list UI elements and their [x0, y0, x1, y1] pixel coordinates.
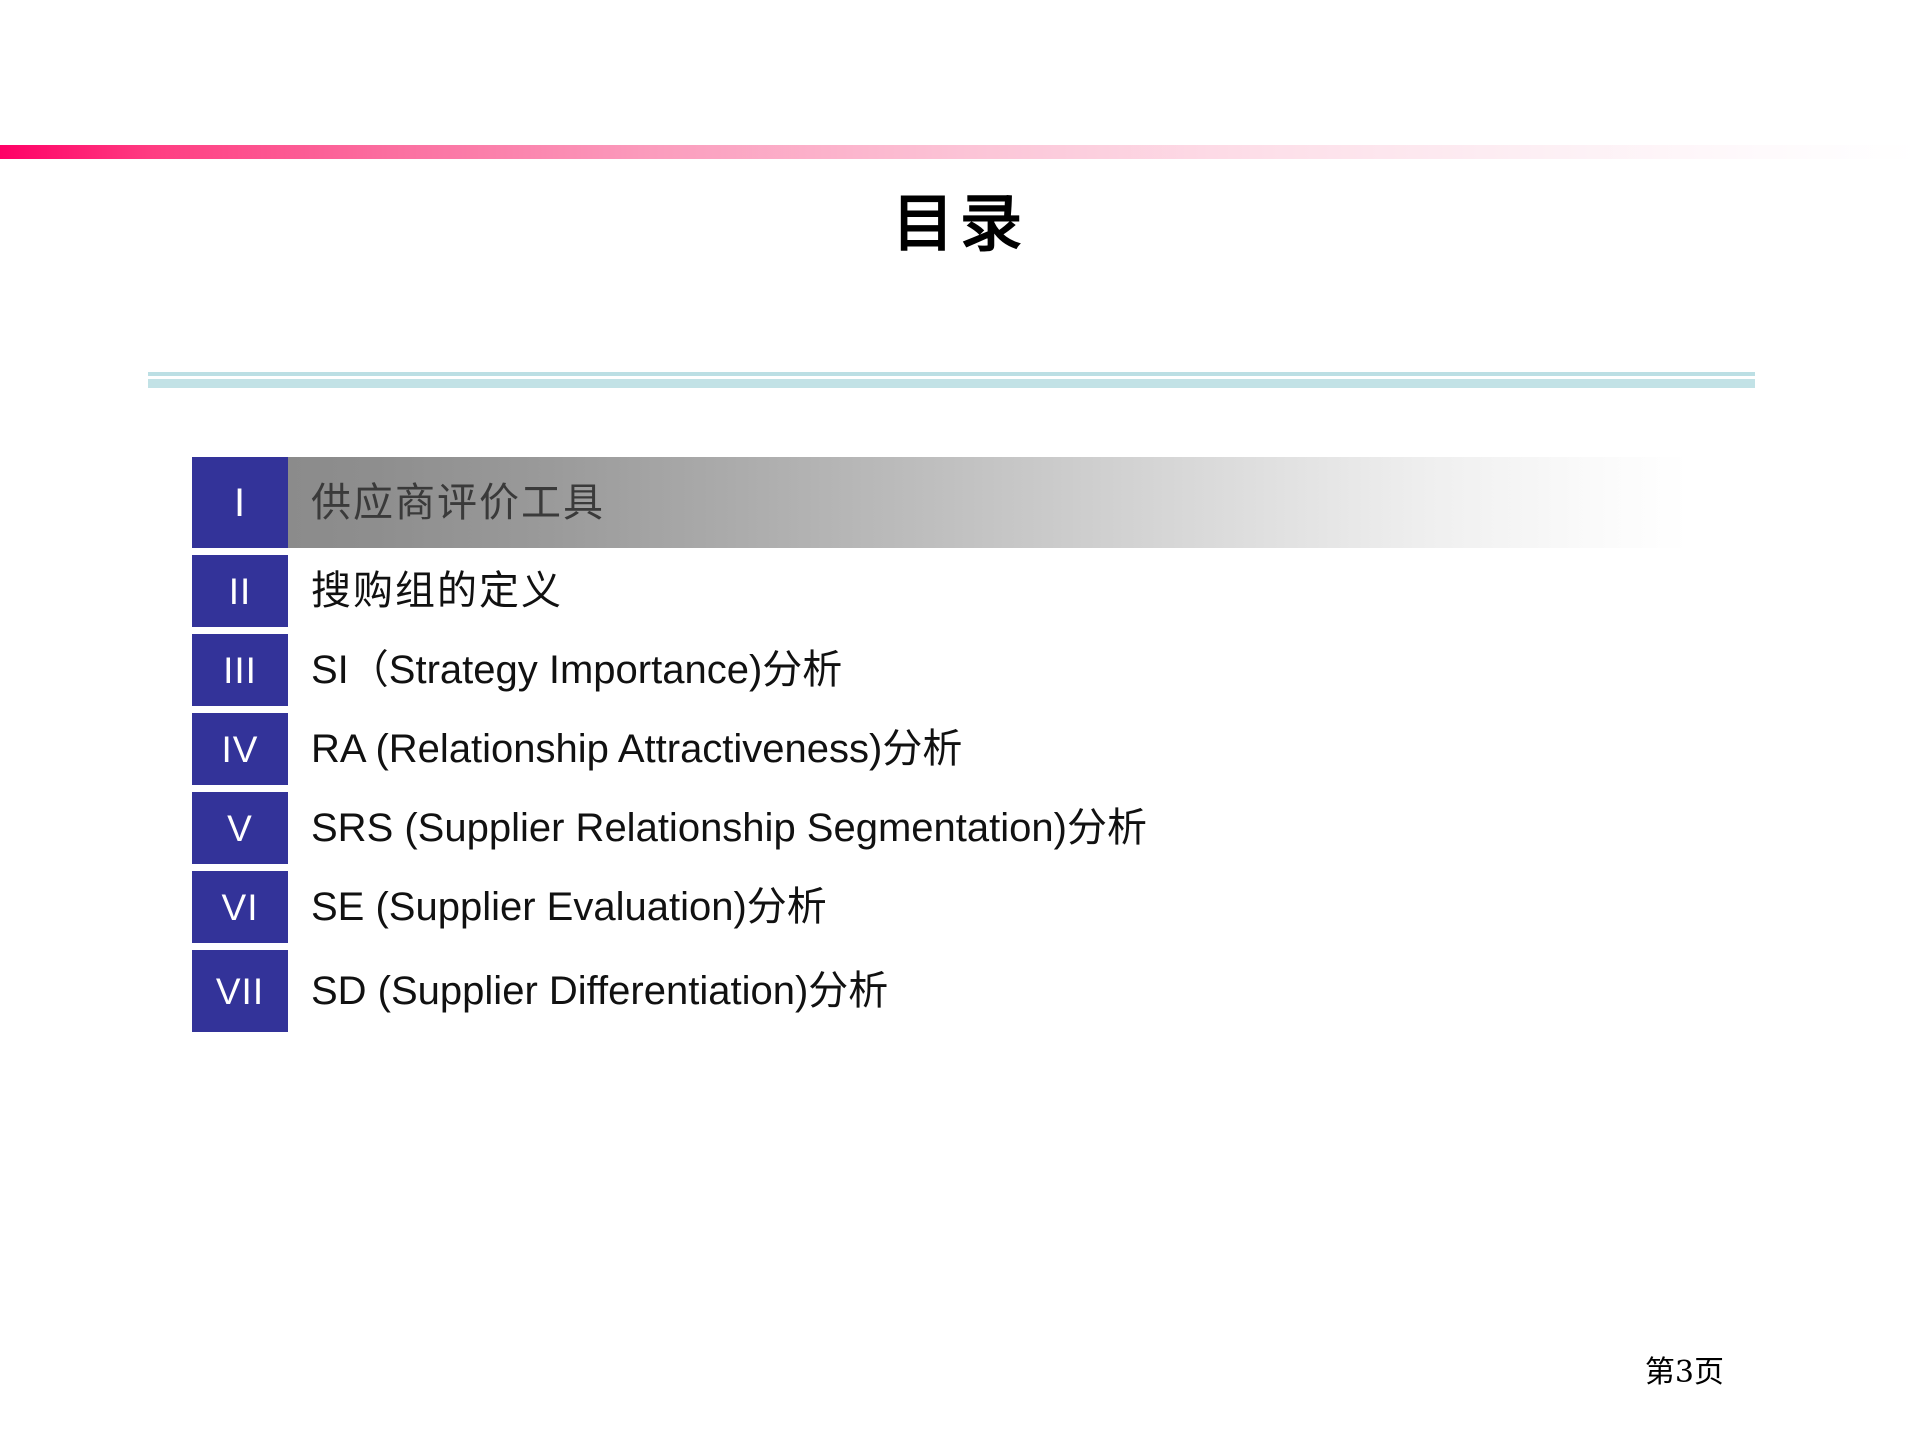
- toc-numeral-7: VII: [192, 950, 288, 1032]
- toc-numeral-3: III: [192, 634, 288, 706]
- toc-numeral-5: V: [192, 792, 288, 864]
- divider-line-thick: [148, 379, 1755, 388]
- toc-numeral-2: II: [192, 555, 288, 627]
- toc-label-7: SD (Supplier Differentiation)分析: [311, 967, 888, 1015]
- toc-item-1[interactable]: I 供应商评价工具: [192, 457, 1732, 548]
- toc-row-body-4: RA (Relationship Attractiveness)分析: [288, 713, 1732, 785]
- slide-canvas: 目录 I 供应商评价工具 II 搜购组的定义 III SI（Strategy I…: [0, 0, 1920, 1440]
- table-of-contents: I 供应商评价工具 II 搜购组的定义 III SI（Strategy Impo…: [192, 457, 1732, 1039]
- toc-row-body-1: 供应商评价工具: [288, 457, 1732, 548]
- toc-row-body-6: SE (Supplier Evaluation)分析: [288, 871, 1732, 943]
- page-title: 目录: [0, 186, 1920, 262]
- toc-item-3[interactable]: III SI（Strategy Importance)分析: [192, 634, 1732, 706]
- toc-item-4[interactable]: IV RA (Relationship Attractiveness)分析: [192, 713, 1732, 785]
- page-number: 第3页: [1645, 1354, 1724, 1392]
- toc-label-6: SE (Supplier Evaluation)分析: [311, 883, 827, 931]
- title-divider: [148, 372, 1755, 388]
- toc-item-7[interactable]: VII SD (Supplier Differentiation)分析: [192, 950, 1732, 1032]
- toc-label-3: SI（Strategy Importance)分析: [311, 646, 842, 694]
- toc-label-5: SRS (Supplier Relationship Segmentation)…: [311, 804, 1147, 852]
- toc-numeral-6: VI: [192, 871, 288, 943]
- toc-label-1: 供应商评价工具: [311, 479, 605, 527]
- toc-item-5[interactable]: V SRS (Supplier Relationship Segmentatio…: [192, 792, 1732, 864]
- toc-item-2[interactable]: II 搜购组的定义: [192, 555, 1732, 627]
- toc-row-body-3: SI（Strategy Importance)分析: [288, 634, 1732, 706]
- toc-item-6[interactable]: VI SE (Supplier Evaluation)分析: [192, 871, 1732, 943]
- toc-row-body-7: SD (Supplier Differentiation)分析: [288, 950, 1732, 1032]
- toc-numeral-1: I: [192, 457, 288, 548]
- toc-label-4: RA (Relationship Attractiveness)分析: [311, 725, 962, 773]
- toc-numeral-4: IV: [192, 713, 288, 785]
- toc-label-2: 搜购组的定义: [311, 567, 563, 615]
- toc-row-body-5: SRS (Supplier Relationship Segmentation)…: [288, 792, 1732, 864]
- top-accent-rule: [0, 145, 1920, 159]
- toc-row-body-2: 搜购组的定义: [288, 555, 1732, 627]
